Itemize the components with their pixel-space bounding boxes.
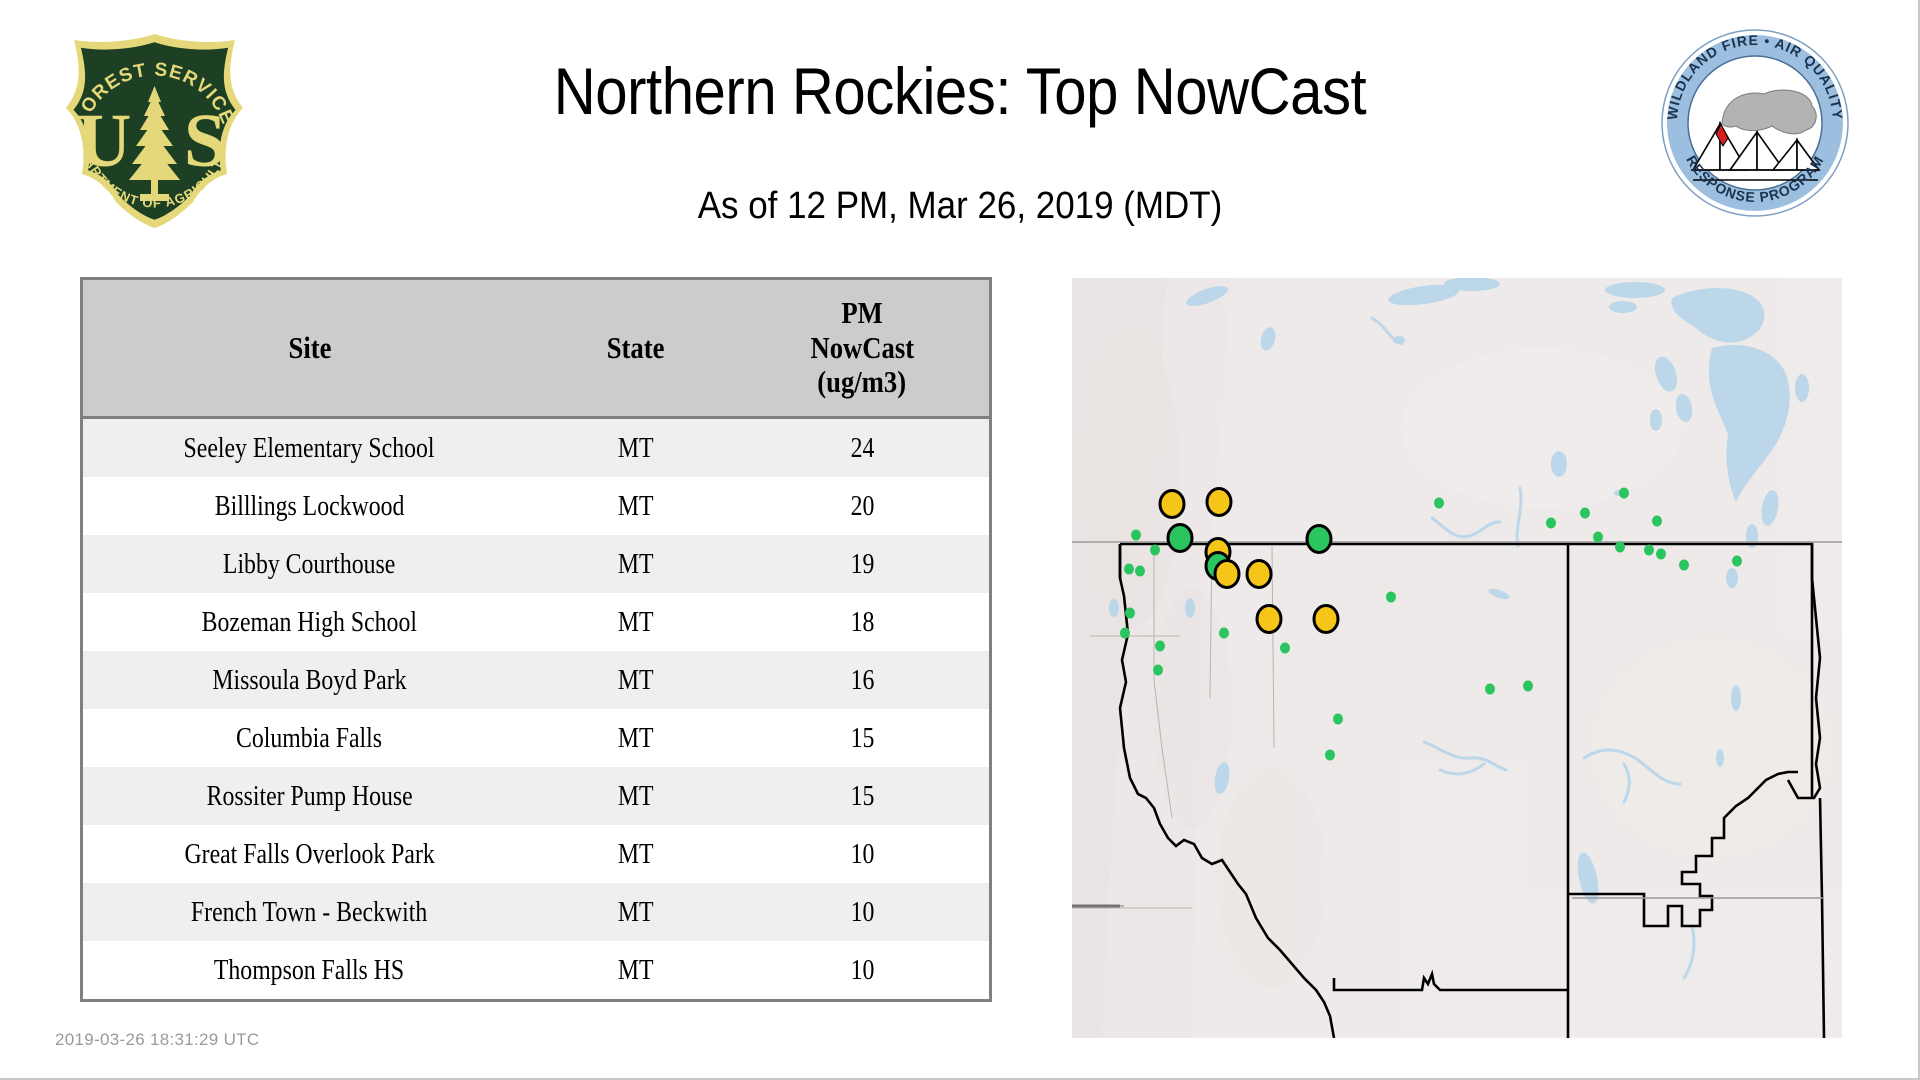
table-row[interactable]: Great Falls Overlook ParkMT10 <box>83 825 989 883</box>
table-row[interactable]: Missoula Boyd ParkMT16 <box>83 651 989 709</box>
column-header-pm-nowcast[interactable]: PM NowCast (ug/m3) <box>735 280 989 418</box>
table-cell-state: MT <box>536 651 735 709</box>
table-cell-state: MT <box>536 709 735 767</box>
map-marker-small[interactable] <box>1125 608 1135 619</box>
map-marker-small[interactable] <box>1280 643 1290 654</box>
table-cell-pm-nowcast: 10 <box>735 941 989 999</box>
table-cell-site: French Town - Beckwith <box>83 883 536 941</box>
table-row[interactable]: Billlings LockwoodMT20 <box>83 477 989 535</box>
header: FOREST SERVICE U S <box>0 0 1920 270</box>
table-cell-site: Columbia Falls <box>83 709 536 767</box>
table-row[interactable]: Thompson Falls HSMT10 <box>83 941 989 999</box>
map-marker-small[interactable] <box>1386 592 1396 603</box>
table-row[interactable]: Bozeman High SchoolMT18 <box>83 593 989 651</box>
map-marker-small[interactable] <box>1124 564 1134 575</box>
table-cell-site-label: Rossiter Pump House <box>206 782 412 811</box>
table-cell-site: Billlings Lockwood <box>83 477 536 535</box>
map-marker-small[interactable] <box>1120 628 1130 639</box>
map-marker-small[interactable] <box>1656 549 1666 560</box>
table-row[interactable]: French Town - BeckwithMT10 <box>83 883 989 941</box>
table-cell-pm-nowcast: 15 <box>735 767 989 825</box>
table-cell-site-label: Bozeman High School <box>202 608 417 637</box>
table-cell-site-label: Columbia Falls <box>236 724 382 753</box>
table-cell-state: MT <box>536 418 735 478</box>
map-marker-small[interactable] <box>1155 641 1165 652</box>
generated-timestamp: 2019-03-26 18:31:29 UTC <box>55 1030 259 1050</box>
map-marker-small[interactable] <box>1485 684 1495 695</box>
map-marker-small[interactable] <box>1732 556 1742 567</box>
map-marker-large[interactable] <box>1257 606 1281 633</box>
table-cell-pm-nowcast-label: 10 <box>850 956 874 985</box>
table-cell-state-label: MT <box>618 782 654 811</box>
map-marker-small[interactable] <box>1644 545 1654 556</box>
table-cell-state: MT <box>536 941 735 999</box>
nowcast-table: Site State PM NowCast (ug/m3) Seeley Ele… <box>83 280 989 999</box>
table-body: Seeley Elementary SchoolMT24Billlings Lo… <box>83 418 989 1000</box>
table-cell-state: MT <box>536 535 735 593</box>
table-cell-pm-nowcast-label: 19 <box>850 550 874 579</box>
map-marker-large[interactable] <box>1160 491 1184 518</box>
map-marker-small[interactable] <box>1546 518 1556 529</box>
table-cell-state: MT <box>536 883 735 941</box>
table-cell-site: Great Falls Overlook Park <box>83 825 536 883</box>
table-cell-pm-nowcast: 16 <box>735 651 989 709</box>
wildland-fire-air-quality-seal-icon: WILDLAND FIRE • AIR QUALITY RESPONSE PRO… <box>1660 28 1850 218</box>
map-marker-small[interactable] <box>1652 516 1662 527</box>
table-header-row: Site State PM NowCast (ug/m3) <box>83 280 989 418</box>
table-cell-state-label: MT <box>618 898 654 927</box>
table-cell-pm-nowcast: 24 <box>735 418 989 478</box>
table-row[interactable]: Seeley Elementary SchoolMT24 <box>83 418 989 478</box>
table-cell-state-label: MT <box>618 492 654 521</box>
map-marker-large[interactable] <box>1215 561 1239 588</box>
map-marker-large[interactable] <box>1307 526 1331 553</box>
column-header-pm-line1: PM <box>841 296 882 331</box>
table-cell-pm-nowcast-label: 18 <box>850 608 874 637</box>
table-header: Site State PM NowCast (ug/m3) <box>83 280 989 418</box>
map-marker-small[interactable] <box>1153 665 1163 676</box>
table-cell-site-label: French Town - Beckwith <box>191 898 427 927</box>
slide-page: FOREST SERVICE U S <box>0 0 1920 1080</box>
table-cell-state: MT <box>536 825 735 883</box>
map-panel[interactable] <box>1072 278 1842 1038</box>
table-cell-state-label: MT <box>618 608 654 637</box>
table-cell-state-label: MT <box>618 666 654 695</box>
table-cell-pm-nowcast-label: 10 <box>850 898 874 927</box>
table-row[interactable]: Libby CourthouseMT19 <box>83 535 989 593</box>
table-cell-state-label: MT <box>618 956 654 985</box>
map-marker-small[interactable] <box>1325 750 1335 761</box>
map-marker-small[interactable] <box>1593 532 1603 543</box>
table-cell-site: Rossiter Pump House <box>83 767 536 825</box>
table-cell-pm-nowcast-label: 20 <box>850 492 874 521</box>
table-cell-pm-nowcast-label: 24 <box>850 434 874 463</box>
map-marker-large[interactable] <box>1247 561 1271 588</box>
table-cell-pm-nowcast: 20 <box>735 477 989 535</box>
table-row[interactable]: Columbia FallsMT15 <box>83 709 989 767</box>
table-cell-site-label: Libby Courthouse <box>223 550 395 579</box>
column-header-pm-line2: NowCast <box>810 331 914 366</box>
table-cell-state: MT <box>536 593 735 651</box>
table-cell-site: Libby Courthouse <box>83 535 536 593</box>
table-cell-pm-nowcast: 10 <box>735 825 989 883</box>
map-marker-small[interactable] <box>1219 628 1229 639</box>
table-cell-site: Missoula Boyd Park <box>83 651 536 709</box>
table-cell-pm-nowcast: 18 <box>735 593 989 651</box>
map-marker-large[interactable] <box>1168 525 1192 552</box>
page-subtitle: As of 12 PM, Mar 26, 2019 (MDT) <box>316 185 1604 228</box>
table-cell-pm-nowcast-label: 10 <box>850 840 874 869</box>
map-marker-small[interactable] <box>1679 560 1689 571</box>
table-cell-pm-nowcast: 19 <box>735 535 989 593</box>
column-header-site[interactable]: Site <box>83 280 536 418</box>
table-cell-state-label: MT <box>618 724 654 753</box>
map-marker-small[interactable] <box>1333 714 1343 725</box>
column-header-state[interactable]: State <box>536 280 735 418</box>
table-cell-site-label: Missoula Boyd Park <box>212 666 406 695</box>
table-cell-site: Seeley Elementary School <box>83 418 536 478</box>
map-marker-small[interactable] <box>1150 545 1160 556</box>
table-cell-site: Bozeman High School <box>83 593 536 651</box>
column-header-pm-line3: (ug/m3) <box>818 365 907 400</box>
table-cell-site-label: Billlings Lockwood <box>215 492 405 521</box>
usda-forest-service-shield-icon: FOREST SERVICE U S <box>52 28 257 233</box>
map-marker-large[interactable] <box>1314 606 1338 633</box>
table-cell-state-label: MT <box>618 434 654 463</box>
map-marker-small[interactable] <box>1523 681 1533 692</box>
table-cell-state: MT <box>536 767 735 825</box>
table-cell-site-label: Great Falls Overlook Park <box>184 840 434 869</box>
map-marker-small[interactable] <box>1131 530 1141 541</box>
table-cell-pm-nowcast-label: 15 <box>850 782 874 811</box>
table-cell-pm-nowcast: 15 <box>735 709 989 767</box>
map-marker-small[interactable] <box>1135 566 1145 577</box>
map-marker-small[interactable] <box>1619 488 1629 499</box>
table-cell-site-label: Thompson Falls HS <box>214 956 404 985</box>
column-header-site-label: Site <box>288 331 331 366</box>
table-cell-pm-nowcast: 10 <box>735 883 989 941</box>
page-title: Northern Rockies: Top NowCast <box>344 58 1576 124</box>
map-marker-large[interactable] <box>1207 489 1231 516</box>
table-cell-pm-nowcast-label: 16 <box>850 666 874 695</box>
table-cell-site: Thompson Falls HS <box>83 941 536 999</box>
map-marker-small[interactable] <box>1434 498 1444 509</box>
table-cell-state-label: MT <box>618 550 654 579</box>
table-cell-state: MT <box>536 477 735 535</box>
map-marker-small[interactable] <box>1615 542 1625 553</box>
nowcast-table-container: Site State PM NowCast (ug/m3) Seeley Ele… <box>80 277 992 1002</box>
table-row[interactable]: Rossiter Pump HouseMT15 <box>83 767 989 825</box>
column-header-state-label: State <box>607 331 665 366</box>
map-canvas[interactable] <box>1072 278 1842 1038</box>
table-cell-pm-nowcast-label: 15 <box>850 724 874 753</box>
table-cell-state-label: MT <box>618 840 654 869</box>
table-cell-site-label: Seeley Elementary School <box>184 434 435 463</box>
map-marker-small[interactable] <box>1580 508 1590 519</box>
